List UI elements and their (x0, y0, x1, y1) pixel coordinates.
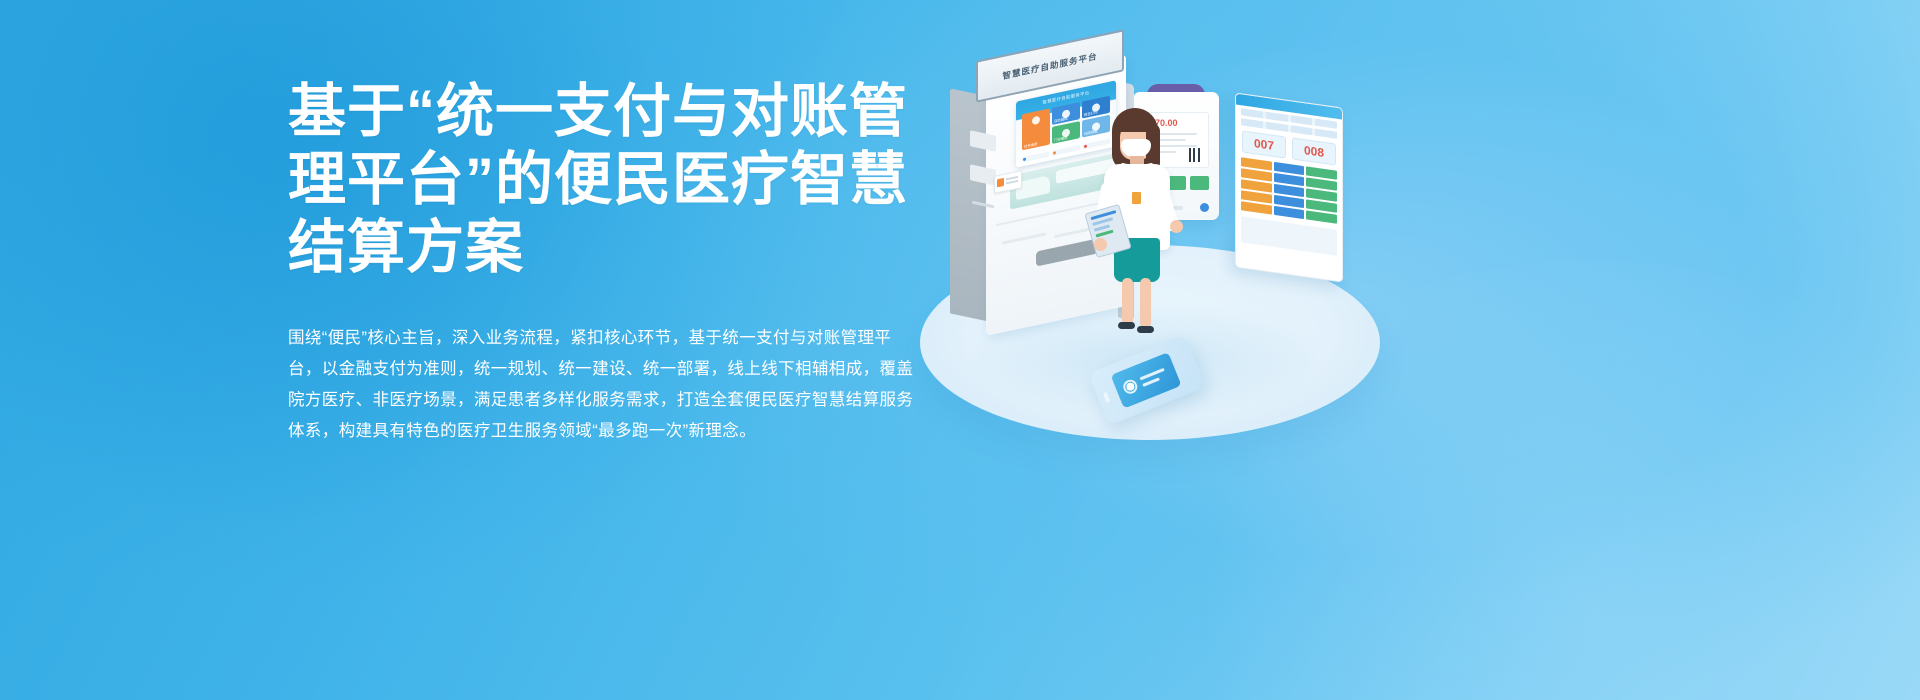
hero-banner: 基于“统一支付与对账管 理平台”的便民医疗智慧 结算方案 围绕“便民”核心主旨，… (0, 0, 1920, 700)
plus-icon (1032, 116, 1040, 126)
hero-description: 围绕“便民”核心主旨，深入业务流程，紧扣核心环节，基于统一支付与对账管理平 台，… (288, 282, 904, 447)
headline-line-3: 结算方案 (288, 214, 904, 282)
phone-speaker (1103, 392, 1110, 403)
kiosk-tile-label: 挂号缴费 (1024, 141, 1038, 149)
doctor-shoe-left (1118, 322, 1135, 329)
queue-number-current: 007 (1242, 130, 1286, 158)
description-line-4: 体系，构建具有特色的医疗卫生服务领域“最多跑一次”新理念。 (288, 416, 904, 447)
description-line-3: 院方医疗、非医疗场景，满足患者多样化服务需求，打造全套便民医疗智慧结算服务 (288, 385, 904, 416)
description-line-2: 台，以金融支付为准则，统一规划、统一建设、统一部署，线上线下相辅相成，覆盖 (288, 354, 904, 385)
kiosk-tile-register[interactable]: 挂号缴费 (1022, 108, 1050, 150)
doctor-leg-left (1122, 278, 1133, 326)
kiosk-footer-voice[interactable] (1052, 145, 1079, 156)
board-color-grid (1241, 157, 1337, 223)
doctor-shoe-right (1137, 326, 1154, 333)
kiosk-tile-outpatient-pay[interactable]: 门诊缴费 (1052, 121, 1080, 144)
doctor-hand-left (1094, 238, 1107, 251)
queue-display-board: 007 008 (1235, 92, 1343, 282)
hero-illustration: 007 008 ¥70.00 (905, 0, 1920, 700)
e-health-card (1111, 352, 1182, 409)
doctor-figure (1088, 108, 1184, 344)
kiosk-footer-help[interactable] (1022, 152, 1049, 163)
hero-copy: 基于“统一支付与对账管 理平台”的便民医疗智慧 结算方案 围绕“便民”核心主旨，… (288, 78, 904, 447)
description-line-1: 围绕“便民”核心主旨，深入业务流程，紧扣核心环节，基于统一支付与对账管理平 (288, 323, 904, 354)
board-footer-panel (1241, 216, 1337, 255)
kiosk-signboard-label: 智慧医疗自助服务平台 (1002, 50, 1097, 82)
page-title: 基于“统一支付与对账管 理平台”的便民医疗智慧 结算方案 (288, 78, 904, 282)
queue-number-next: 008 (1292, 137, 1336, 165)
doctor-leg-right (1140, 278, 1151, 328)
headline-line-2: 理平台”的便民医疗智慧 (288, 146, 904, 214)
kiosk-tile-label: 自助建档 (1054, 116, 1068, 124)
qr-code-icon (1189, 148, 1203, 162)
kiosk-tile-label: 门诊缴费 (1054, 135, 1068, 143)
doctor-badge-icon (1132, 192, 1141, 204)
doctor-hand-right (1170, 220, 1183, 233)
terminal-indicator-icon (1200, 203, 1209, 212)
headline-line-1: 基于“统一支付与对账管 (288, 78, 904, 146)
doctor-face-mask (1121, 139, 1151, 157)
